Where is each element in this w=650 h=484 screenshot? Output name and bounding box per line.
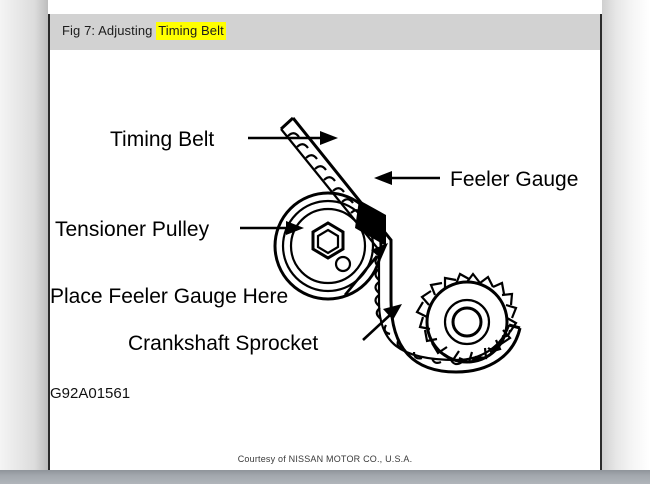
caption-prefix: Fig 7: Adjusting [62, 23, 156, 38]
figure-panel: Fig 7: Adjusting Timing Belt [48, 14, 602, 470]
leader-lines [240, 131, 440, 340]
label-crankshaft-sprocket: Crankshaft Sprocket [128, 332, 318, 355]
window-bottom-bar [0, 470, 650, 484]
caption-highlighted-term: Timing Belt [156, 22, 226, 40]
label-feeler-gauge: Feeler Gauge [450, 168, 578, 191]
crankshaft-sprocket-drawing [417, 274, 516, 362]
left-page-gutter [0, 0, 48, 470]
tensioner-pulley-drawing [275, 193, 381, 299]
label-timing-belt: Timing Belt [110, 128, 214, 151]
leader-feeler-gauge [374, 171, 440, 185]
figure-part-code: G92A01561 [50, 385, 130, 402]
timing-belt-diagram: Timing Belt Feeler Gauge Tensioner Pulle… [50, 50, 600, 470]
label-place-feeler-gauge: Place Feeler Gauge Here [50, 285, 288, 308]
figure-caption: Fig 7: Adjusting Timing Belt [62, 23, 226, 38]
figure-caption-bar: Fig 7: Adjusting Timing Belt [50, 14, 600, 50]
label-tensioner-pulley: Tensioner Pulley [55, 218, 210, 241]
right-page-gutter [602, 0, 650, 470]
courtesy-credit: Courtesy of NISSAN MOTOR CO., U.S.A. [238, 454, 413, 464]
leader-place-feeler-gauge [345, 243, 388, 295]
screenshot-viewport: Fig 7: Adjusting Timing Belt [0, 0, 650, 484]
